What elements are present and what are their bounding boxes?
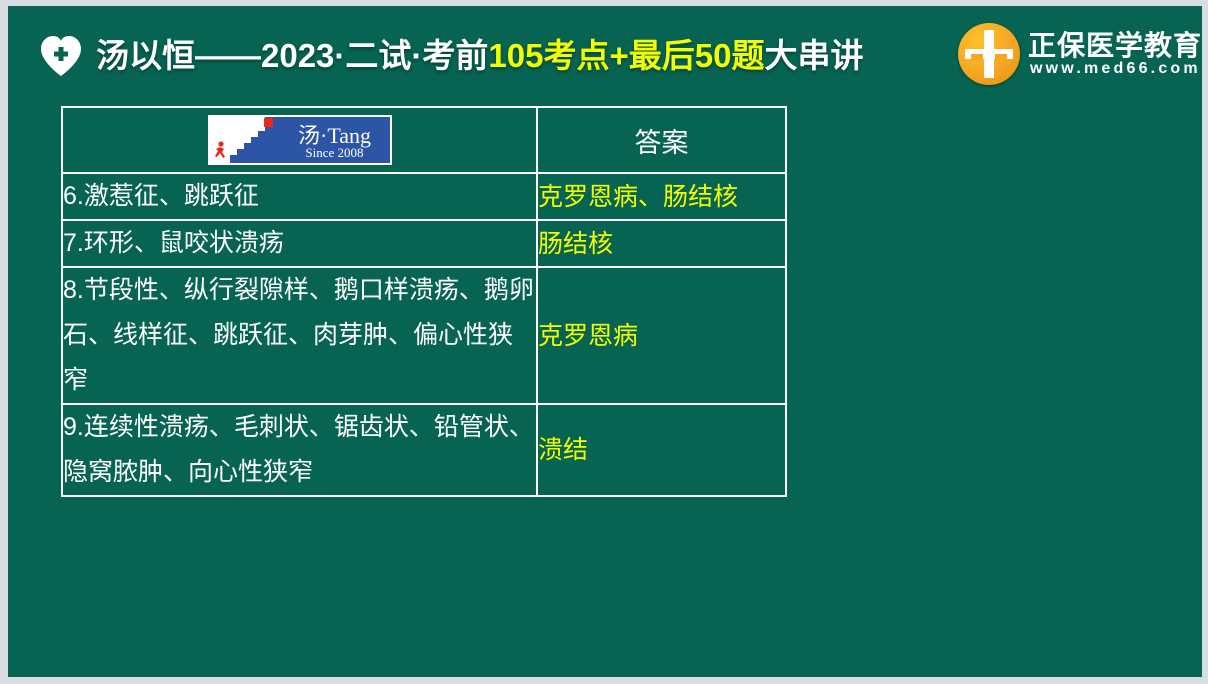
tang-since: Since 2008 [280, 145, 390, 161]
orange-circle-cross-icon [958, 23, 1020, 85]
title-plus: + [609, 37, 628, 74]
red-flag-icon [264, 118, 273, 127]
qa-table: 汤·Tang Since 2008 答案 6.激惹征、跳跃征 克罗恩病、肠结核 … [61, 106, 787, 497]
answer-cell-6: 克罗恩病、肠结核 [537, 173, 786, 220]
table-header-row: 汤·Tang Since 2008 答案 [62, 107, 786, 173]
title-highlight-1: 105考点 [488, 37, 609, 74]
table-row: 8.节段性、纵行裂隙样、鹅口样溃疡、鹅卵石、线样征、跳跃征、肉芽肿、偏心性狭窄 … [62, 267, 786, 404]
tang-wordmark: 汤·Tang Since 2008 [280, 117, 390, 163]
page-title: 汤以恒——2023·二试·考前105考点+最后50题大串讲 [96, 30, 956, 82]
brand-name: 正保医学教育网 [1028, 24, 1202, 64]
answer-cell-7: 肠结核 [537, 220, 786, 267]
question-cell-8: 8.节段性、纵行裂隙样、鹅口样溃疡、鹅卵石、线样征、跳跃征、肉芽肿、偏心性狭窄 [62, 267, 537, 404]
title-highlight-2: 最后50题 [629, 37, 765, 74]
table-header-logo-cell: 汤·Tang Since 2008 [62, 107, 537, 173]
table-header-answer-cell: 答案 [537, 107, 786, 173]
question-cell-6: 6.激惹征、跳跃征 [62, 173, 537, 220]
title-segment-1: 汤以恒——2023·二试·考前 [96, 37, 488, 74]
brand-url: www.med66.com [1030, 60, 1201, 78]
table-row: 6.激惹征、跳跃征 克罗恩病、肠结核 [62, 173, 786, 220]
brand-logo: 正保医学教育网 www.med66.com [954, 18, 1190, 90]
table-row: 7.环形、鼠咬状溃疡 肠结核 [62, 220, 786, 267]
question-cell-9: 9.连续性溃疡、毛刺状、锯齿状、铅管状、隐窝脓肿、向心性狭窄 [62, 404, 537, 496]
title-segment-2: 大串讲 [764, 37, 863, 74]
tang-logo: 汤·Tang Since 2008 [208, 115, 392, 165]
slide-canvas: 汤以恒——2023·二试·考前105考点+最后50题大串讲 正保医学教育网 ww… [8, 6, 1202, 677]
answer-cell-8: 克罗恩病 [537, 267, 786, 404]
running-person-icon [213, 141, 229, 161]
staircase-runner-icon [210, 117, 280, 163]
table-row: 9.连续性溃疡、毛刺状、锯齿状、铅管状、隐窝脓肿、向心性狭窄 溃结 [62, 404, 786, 496]
question-cell-7: 7.环形、鼠咬状溃疡 [62, 220, 537, 267]
heart-cross-icon [39, 35, 83, 77]
answer-cell-9: 溃结 [537, 404, 786, 496]
slide-header: 汤以恒——2023·二试·考前105考点+最后50题大串讲 正保医学教育网 ww… [8, 6, 1202, 102]
